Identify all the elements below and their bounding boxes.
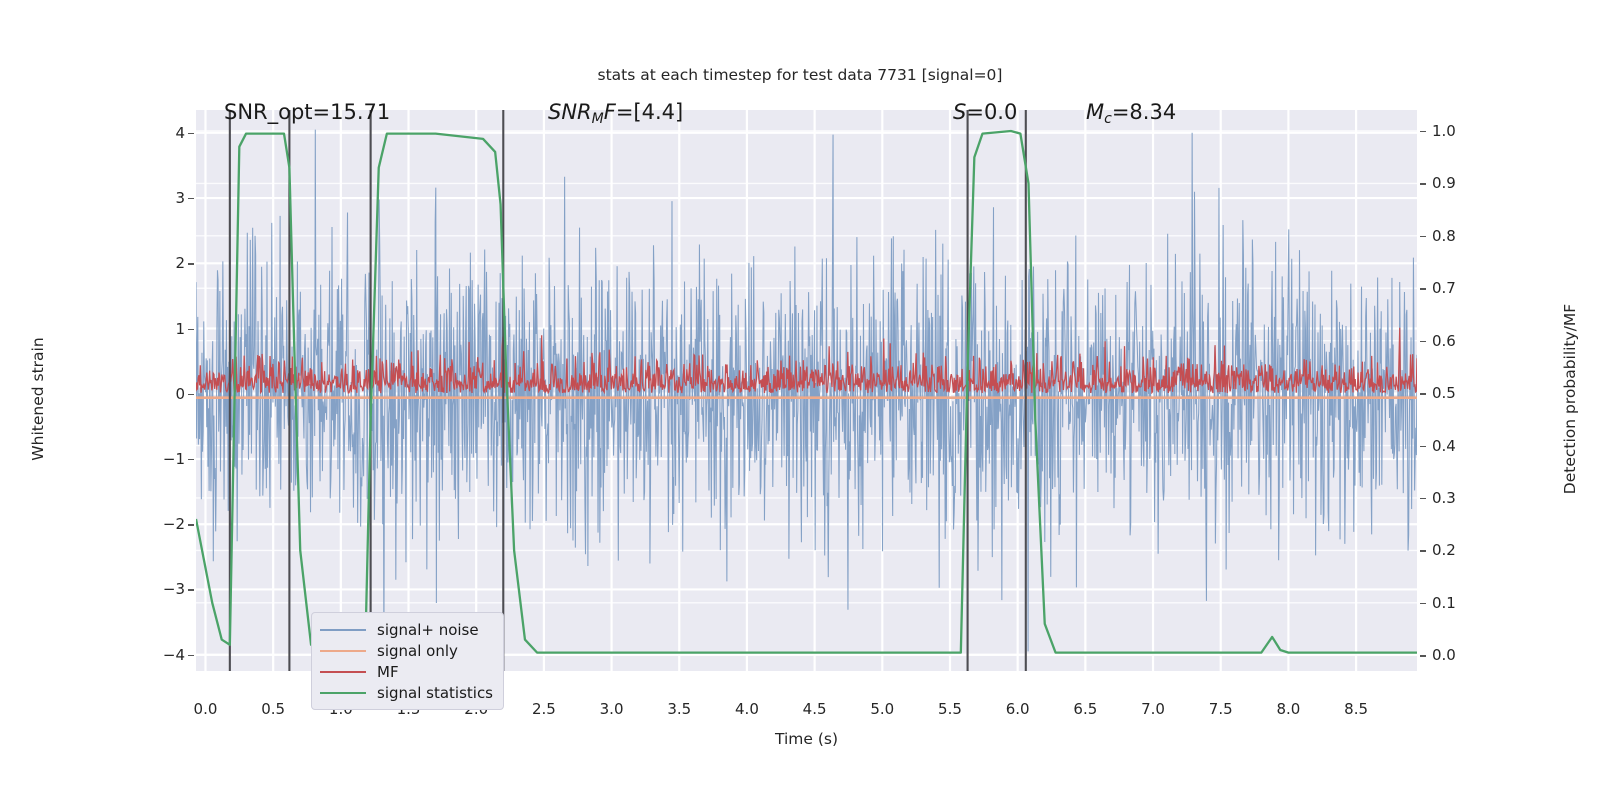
page-title: stats at each timestep for test data 773… [0,66,1600,84]
tick-mark [1420,446,1426,447]
x-tick-1: 0.5 [261,700,285,718]
y-tick-left-3: 1 [175,320,185,338]
plot-axes [196,110,1417,671]
x-tick-8: 4.0 [735,700,759,718]
annotation-snr-opt: SNR_opt=15.71 [224,100,390,124]
y-tick-right-8: 0.2 [1432,541,1456,559]
y-tick-right-1: 0.9 [1432,174,1456,192]
tick-mark [1420,183,1426,184]
tick-mark [188,133,194,134]
x-tick-6: 3.0 [600,700,624,718]
tick-mark [1420,393,1426,394]
tick-mark [188,263,194,264]
y-tick-right-2: 0.8 [1432,227,1456,245]
annotation-s-value: S=0.0 [953,100,1017,124]
tick-mark [188,394,194,395]
tick-mark [188,459,194,460]
legend-label: signal+ noise [377,621,479,639]
tick-mark [1420,498,1426,499]
legend-swatch-icon [320,692,366,694]
y-tick-left-7: −3 [163,580,185,598]
x-tick-12: 6.0 [1006,700,1030,718]
legend-item-3[interactable]: signal statistics [320,682,493,703]
y-axis-label-left: Whitened strain [29,239,47,559]
legend-swatch-icon [320,671,366,673]
data-traces [196,110,1417,671]
legend[interactable]: signal+ noisesignal onlyMFsignal statist… [311,612,504,710]
y-tick-left-8: −4 [163,646,185,664]
y-tick-right-9: 0.1 [1432,594,1456,612]
legend-label: signal only [377,642,458,660]
x-tick-5: 2.5 [532,700,556,718]
y-tick-right-10: 0.0 [1432,646,1456,664]
legend-swatch-icon [320,650,366,652]
y-tick-left-5: −1 [163,450,185,468]
y-tick-left-2: 2 [175,254,185,272]
y-tick-left-4: 0 [175,385,185,403]
tick-mark [188,198,194,199]
annotation-snr-mf: SNRMF=[4.4] [548,100,683,127]
x-tick-11: 5.5 [938,700,962,718]
tick-mark [1420,341,1426,342]
tick-mark [1420,550,1426,551]
y-tick-right-5: 0.5 [1432,384,1456,402]
legend-label: MF [377,663,399,681]
x-tick-10: 5.0 [870,700,894,718]
legend-item-2[interactable]: MF [320,661,493,682]
y-tick-left-0: 4 [175,124,185,142]
tick-mark [1420,655,1426,656]
legend-item-1[interactable]: signal only [320,640,493,661]
legend-swatch-icon [320,629,366,631]
x-tick-9: 4.5 [803,700,827,718]
annotation-chirp-mass: Mc=8.34 [1086,100,1176,127]
x-tick-15: 7.5 [1209,700,1233,718]
x-tick-16: 8.0 [1276,700,1300,718]
tick-mark [1420,288,1426,289]
y-tick-right-6: 0.4 [1432,437,1456,455]
tick-mark [1420,236,1426,237]
legend-item-0[interactable]: signal+ noise [320,619,493,640]
tick-mark [1420,603,1426,604]
tick-mark [188,524,194,525]
y-tick-right-7: 0.3 [1432,489,1456,507]
tick-mark [188,589,194,590]
y-tick-right-0: 1.0 [1432,122,1456,140]
y-tick-left-6: −2 [163,515,185,533]
y-tick-right-3: 0.7 [1432,279,1456,297]
y-tick-right-4: 0.6 [1432,332,1456,350]
tick-mark [1420,131,1426,132]
y-axis-label-right: Detection probability/MF [1561,199,1579,599]
tick-mark [188,655,194,656]
x-tick-7: 3.5 [667,700,691,718]
y-tick-left-1: 3 [175,189,185,207]
x-axis-label: Time (s) [196,730,1417,748]
x-tick-0: 0.0 [194,700,218,718]
legend-label: signal statistics [377,684,493,702]
tick-mark [188,329,194,330]
x-tick-14: 7.0 [1141,700,1165,718]
x-tick-17: 8.5 [1344,700,1368,718]
x-tick-13: 6.5 [1073,700,1097,718]
figure: stats at each timestep for test data 773… [0,0,1600,800]
